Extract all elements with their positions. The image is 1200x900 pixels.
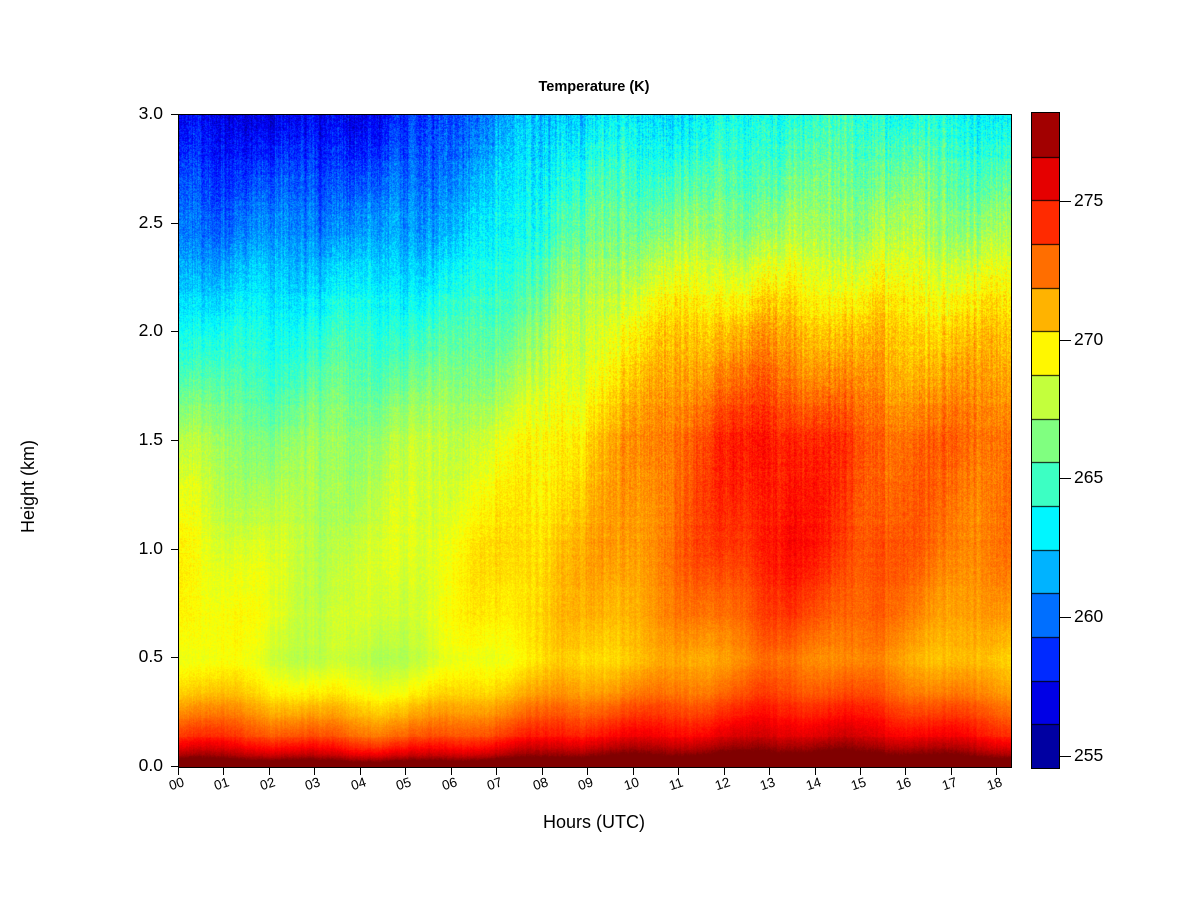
x-tick-label: 06 bbox=[440, 774, 459, 793]
colorbar-tick-mark bbox=[1060, 617, 1071, 618]
x-tick-mark bbox=[405, 767, 406, 775]
y-tick-label: 2.5 bbox=[103, 212, 163, 233]
x-tick-label: 10 bbox=[622, 774, 641, 793]
heatmap-canvas bbox=[179, 115, 1011, 767]
x-tick-label: 04 bbox=[349, 774, 368, 793]
x-tick-mark bbox=[314, 767, 315, 775]
x-tick-label: 08 bbox=[531, 774, 550, 793]
heatmap-panel bbox=[178, 114, 1012, 768]
colorbar-tick-mark bbox=[1060, 340, 1071, 341]
y-tick-label: 1.5 bbox=[103, 429, 163, 450]
y-tick-mark bbox=[171, 331, 179, 332]
y-axis-title: Height (km) bbox=[18, 440, 39, 533]
x-tick-mark bbox=[815, 767, 816, 775]
colorbar-tick-label: 270 bbox=[1074, 329, 1103, 350]
colorbar-tick-label: 265 bbox=[1074, 467, 1103, 488]
x-tick-mark bbox=[678, 767, 679, 775]
y-tick-label: 0.0 bbox=[103, 755, 163, 776]
x-tick-label: 02 bbox=[258, 774, 277, 793]
x-tick-label: 18 bbox=[985, 774, 1004, 793]
colorbar-tick-label: 275 bbox=[1074, 190, 1103, 211]
colorbar-tick-mark bbox=[1060, 756, 1071, 757]
y-tick-mark bbox=[171, 223, 179, 224]
x-tick-mark bbox=[360, 767, 361, 775]
y-tick-mark bbox=[171, 549, 179, 550]
x-tick-mark bbox=[178, 767, 179, 775]
colorbar-tick-mark bbox=[1060, 201, 1071, 202]
y-tick-mark bbox=[171, 657, 179, 658]
colorbar-tick-mark bbox=[1060, 478, 1071, 479]
x-tick-mark bbox=[542, 767, 543, 775]
y-tick-label: 3.0 bbox=[103, 103, 163, 124]
x-tick-mark bbox=[451, 767, 452, 775]
colorbar-tick-label: 260 bbox=[1074, 606, 1103, 627]
temperature-colorbar bbox=[1031, 112, 1060, 769]
x-tick-mark bbox=[587, 767, 588, 775]
x-tick-label: 07 bbox=[485, 774, 504, 793]
y-tick-label: 0.5 bbox=[103, 646, 163, 667]
x-tick-label: 11 bbox=[667, 775, 685, 794]
x-tick-label: 09 bbox=[576, 774, 595, 793]
x-tick-label: 01 bbox=[212, 774, 231, 793]
x-tick-mark bbox=[860, 767, 861, 775]
x-tick-label: 16 bbox=[894, 774, 913, 793]
x-tick-mark bbox=[905, 767, 906, 775]
x-tick-label: 13 bbox=[758, 774, 777, 793]
page-title: Temperature (K) bbox=[178, 79, 1010, 95]
y-tick-label: 2.0 bbox=[103, 320, 163, 341]
x-tick-label: 17 bbox=[940, 774, 959, 793]
x-tick-label: 03 bbox=[303, 774, 322, 793]
x-tick-mark bbox=[496, 767, 497, 775]
x-tick-label: 05 bbox=[394, 774, 413, 793]
x-tick-mark bbox=[769, 767, 770, 775]
colorbar-tick-label: 255 bbox=[1074, 745, 1103, 766]
x-tick-label: 00 bbox=[167, 774, 186, 793]
y-tick-mark bbox=[171, 440, 179, 441]
y-tick-mark bbox=[171, 114, 179, 115]
x-tick-mark bbox=[724, 767, 725, 775]
figure-root: Temperature (K) 0.00.51.01.52.02.53.0 00… bbox=[0, 0, 1200, 900]
x-tick-mark bbox=[996, 767, 997, 775]
x-tick-mark bbox=[223, 767, 224, 775]
x-axis-title: Hours (UTC) bbox=[178, 812, 1010, 833]
colorbar-canvas bbox=[1032, 113, 1059, 768]
x-tick-mark bbox=[633, 767, 634, 775]
x-tick-mark bbox=[269, 767, 270, 775]
x-tick-mark bbox=[951, 767, 952, 775]
y-tick-label: 1.0 bbox=[103, 538, 163, 559]
x-tick-label: 15 bbox=[849, 774, 868, 793]
x-tick-label: 12 bbox=[713, 774, 732, 793]
x-tick-label: 14 bbox=[804, 774, 823, 793]
